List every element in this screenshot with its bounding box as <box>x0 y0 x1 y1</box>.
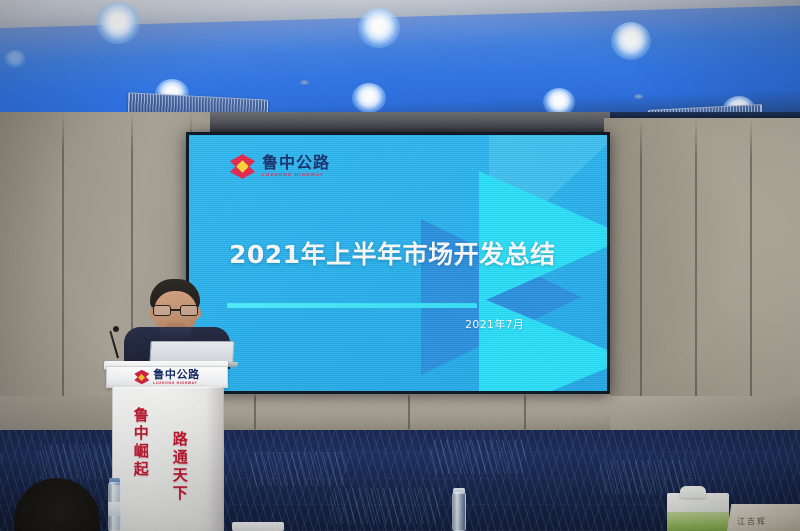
wall-panel-seam <box>62 112 64 442</box>
screen-base-cabinet <box>186 392 610 432</box>
slide-logo-text: 鲁中公路 LUZHONG HIGHWAY <box>262 155 330 178</box>
conference-photo-scene: 鲁中公路 LUZHONG HIGHWAY 2021年上半年市场开发总结 2021… <box>0 0 800 531</box>
base-panel-seam <box>254 393 256 433</box>
tissue-box-band <box>667 512 729 531</box>
ceiling-downlight <box>358 8 400 48</box>
eyeglasses-icon <box>153 305 198 316</box>
ceiling-sprinkler <box>300 80 309 85</box>
desk-name-card-text: 江吉辉 <box>737 516 767 527</box>
ceiling <box>0 0 800 122</box>
podium-side-shadow <box>206 387 224 531</box>
ceiling-downlight <box>4 50 26 68</box>
slide-chevron-lower <box>479 297 607 391</box>
ceiling-downlight <box>96 2 140 44</box>
ceiling-sprinkler <box>634 94 643 99</box>
water-bottle-label <box>108 502 121 516</box>
luzhong-diamond-icon <box>230 154 255 179</box>
slide-date: 2021年7月 <box>465 316 524 332</box>
podium-calligraphy-left: 路通天下 <box>171 431 187 503</box>
slide-logo-english: LUZHONG HIGHWAY <box>262 173 330 178</box>
slide-logo: 鲁中公路 LUZHONG HIGHWAY <box>230 154 330 179</box>
carpet-tile <box>250 452 346 486</box>
ceiling-downlight <box>611 22 651 60</box>
podium-logo-english: LUZHONG HIGHWAY <box>153 382 199 385</box>
tissue-sheet <box>680 486 706 498</box>
podium-calligraphy-right: 鲁中崛起 <box>132 407 148 479</box>
slide-surface: 鲁中公路 LUZHONG HIGHWAY 2021年上半年市场开发总结 2021… <box>189 135 607 391</box>
luzhong-diamond-icon <box>134 370 149 385</box>
slide-logo-chinese: 鲁中公路 <box>262 155 330 171</box>
laptop-screen[interactable] <box>149 341 234 363</box>
water-bottle <box>452 492 466 531</box>
podium-logo-chinese: 鲁中公路 <box>153 369 199 380</box>
papers <box>232 522 284 531</box>
base-panel-seam <box>524 393 526 433</box>
ceiling-downlight <box>352 83 386 113</box>
podium-logo-text: 鲁中公路 LUZHONG HIGHWAY <box>153 369 199 385</box>
carpet-tile <box>430 440 526 474</box>
podium-logo-banner: 鲁中公路 LUZHONG HIGHWAY <box>106 366 228 388</box>
carpet-tile <box>330 488 440 524</box>
base-panel-seam <box>408 393 410 433</box>
slide-title-rule <box>227 303 477 308</box>
slide-title: 2021年上半年市场开发总结 <box>229 235 529 271</box>
wall-above-screen <box>186 112 610 134</box>
led-presentation-screen[interactable]: 鲁中公路 LUZHONG HIGHWAY 2021年上半年市场开发总结 2021… <box>186 132 610 394</box>
microphone-icon <box>113 326 119 332</box>
